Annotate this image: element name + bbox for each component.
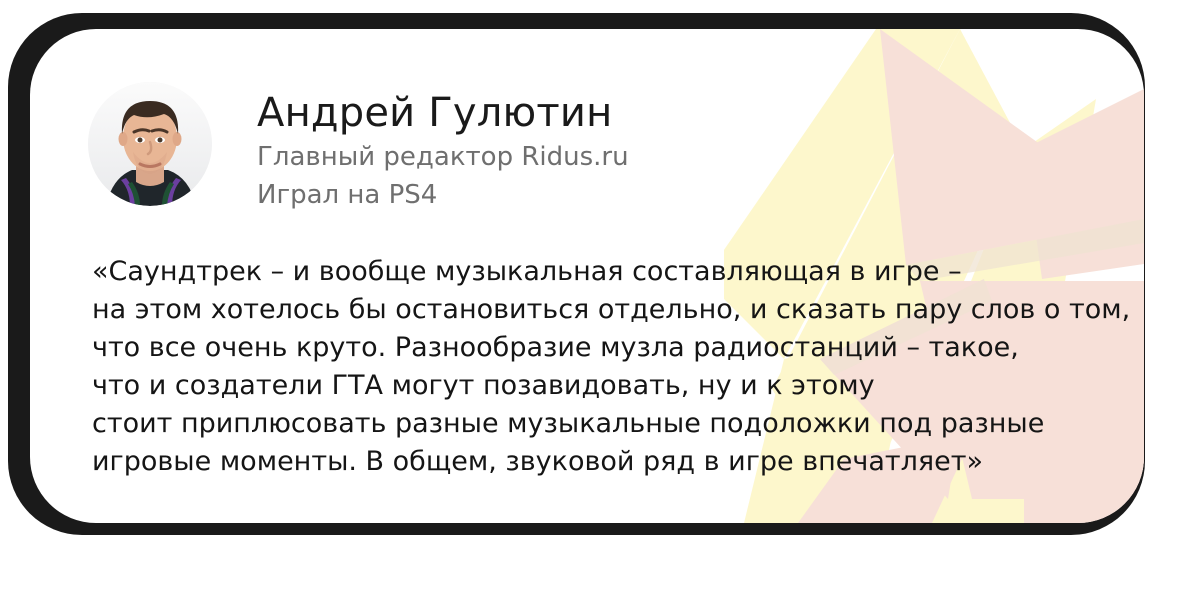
quote-line: что все очень круто. Разнообразие музла … [92,329,1102,367]
profile-platform: Играл на PS4 [257,176,629,214]
testimonial-card: Андрей Гулютин Главный редактор Ridus.ru… [8,13,1145,535]
page-title: Андрей Гулютин [257,88,629,138]
quote-line: что и создатели ГТА могут позавидовать, … [92,367,1102,405]
quote-body: «Саундтрек – и вообще музыкальная состав… [92,253,1102,481]
profile-role: Главный редактор Ridus.ru [257,138,629,176]
profile-text-block: Андрей Гулютин Главный редактор Ridus.ru… [257,82,629,214]
avatar [88,82,212,206]
quote-line: стоит приплюсовать разные музыкальные по… [92,405,1102,443]
quote-line: игровые моменты. В общем, звуковой ряд в… [92,443,1102,481]
quote-line: «Саундтрек – и вообще музыкальная состав… [92,253,1102,291]
quote-line: на этом хотелось бы остановиться отдельн… [92,291,1102,329]
card-surface: Андрей Гулютин Главный редактор Ridus.ru… [30,29,1144,523]
avatar-photo-icon [88,82,212,206]
profile-header: Андрей Гулютин Главный редактор Ridus.ru… [88,82,629,214]
